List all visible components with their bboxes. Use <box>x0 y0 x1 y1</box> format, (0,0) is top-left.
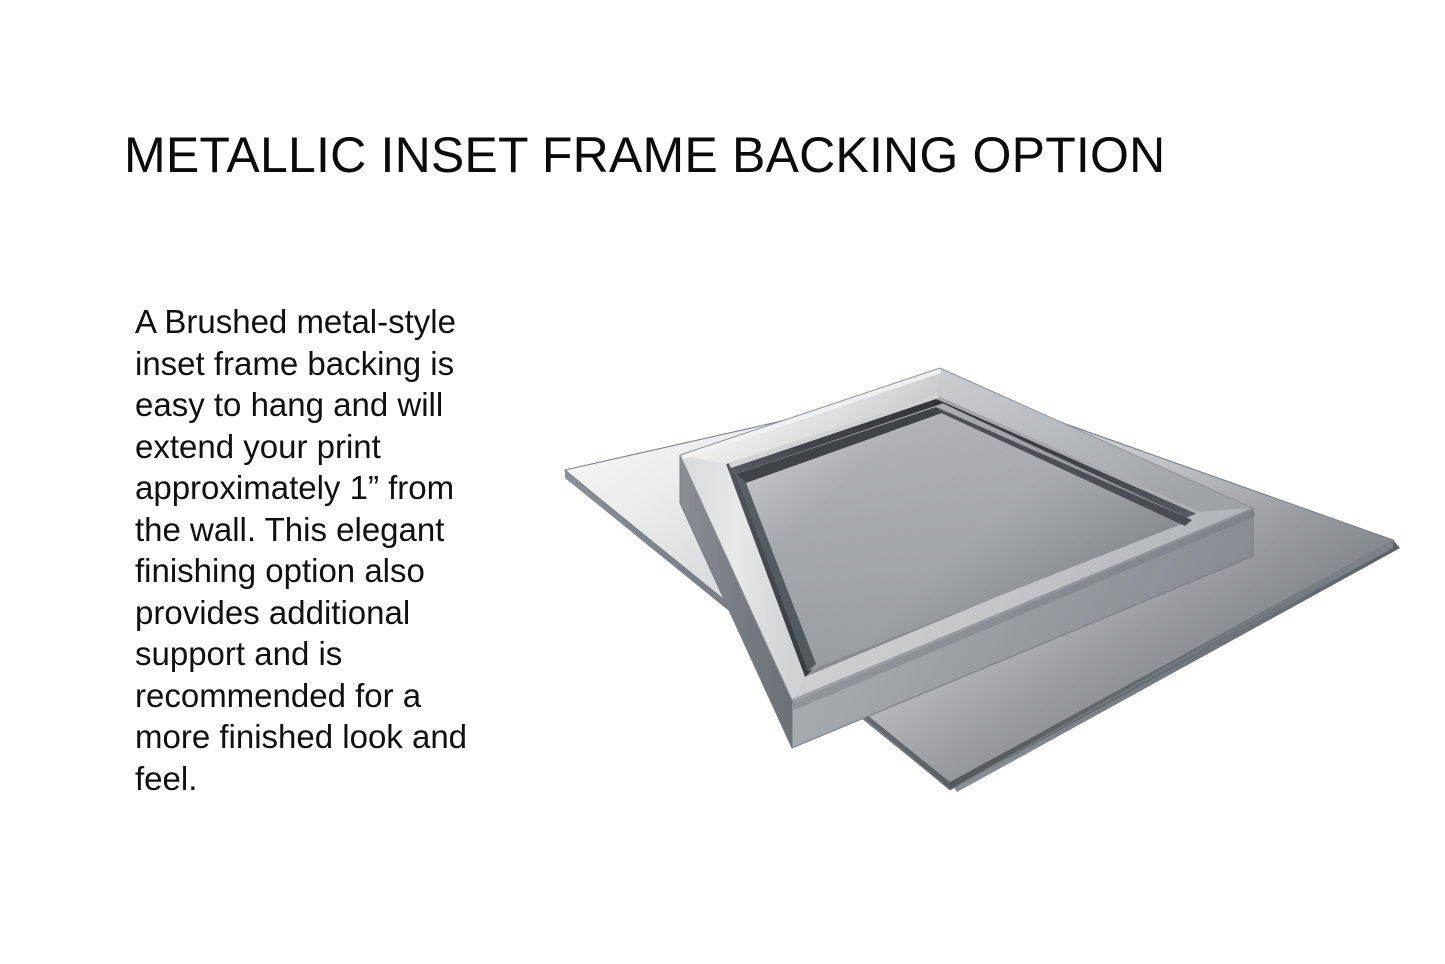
page-title: METALLIC INSET FRAME BACKING OPTION <box>124 126 1324 184</box>
product-image <box>540 340 1420 810</box>
slide-canvas: METALLIC INSET FRAME BACKING OPTION A Br… <box>0 0 1445 964</box>
inset-frame-illustration <box>540 340 1420 810</box>
body-paragraph: A Brushed metal-style inset frame backin… <box>135 301 487 799</box>
